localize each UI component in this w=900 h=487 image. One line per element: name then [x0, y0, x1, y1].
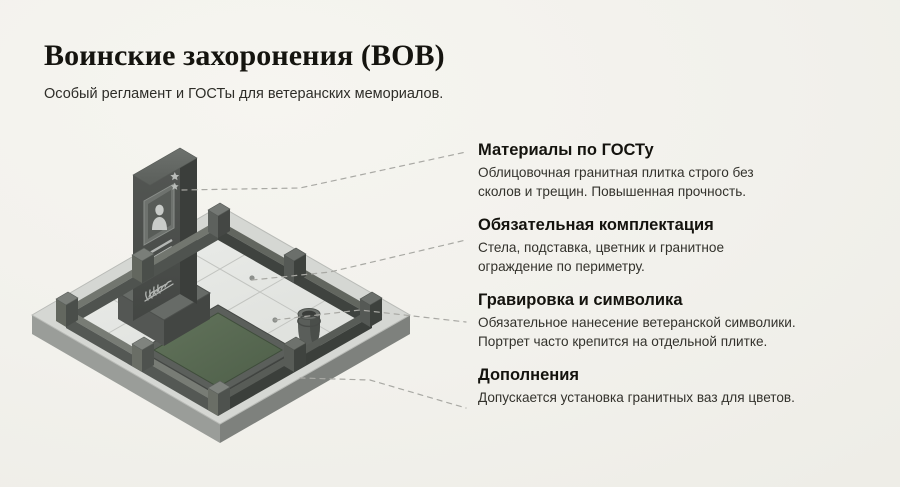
feature-title-extras: Дополнения: [478, 365, 878, 386]
feature-title-materials: Материалы по ГОСТу: [478, 140, 878, 161]
fence-post-top: [208, 203, 230, 238]
feature-line-completeness-1: Стела, подставка, цветник и гранитное: [478, 239, 878, 258]
feature-block-extras: Дополнения Допускается установка гранитн…: [478, 365, 878, 408]
feature-block-engraving: Гравировка и символика Обязательное нане…: [478, 290, 878, 351]
fence-post-mid-back-left: [132, 248, 154, 283]
leader-dot-2: [272, 317, 277, 322]
feature-title-completeness: Обязательная комплектация: [478, 215, 878, 236]
stela-side-face: [180, 148, 197, 304]
feature-line-materials-1: Облицовочная гранитная плитка строго без: [478, 164, 878, 183]
feature-block-materials: Материалы по ГОСТу Облицовочная гранитна…: [478, 140, 878, 201]
header: Воинские захоронения (ВОВ) Особый реглам…: [44, 38, 664, 104]
fence-post-mid-front-left: [132, 337, 154, 372]
feature-line-engraving-2: Портрет часто крепится на отдельной плит…: [478, 333, 878, 352]
feature-line-materials-2: сколов и трещин. Повышенная прочность.: [478, 183, 878, 202]
fence-post-right: [360, 292, 382, 327]
fence-post-bottom: [208, 381, 230, 416]
page-subtitle: Особый регламент и ГОСТы для ветеранских…: [44, 84, 664, 104]
feature-block-completeness: Обязательная комплектация Стела, подстав…: [478, 215, 878, 276]
feature-line-engraving-1: Обязательное нанесение ветеранской симво…: [478, 314, 878, 333]
infographic-page: Воинские захоронения (ВОВ) Особый реглам…: [0, 0, 900, 487]
leader-dot-1: [249, 275, 254, 280]
feature-line-extras-1: Допускается установка гранитных ваз для …: [478, 389, 878, 408]
fence-post-left: [56, 292, 78, 327]
fence-post-mid-back-right: [284, 248, 306, 283]
feature-line-completeness-2: ограждение по периметру.: [478, 258, 878, 277]
fence-post-mid-front-right: [284, 337, 306, 372]
memorial-isometric-svg: [22, 118, 462, 473]
feature-title-engraving: Гравировка и символика: [478, 290, 878, 311]
memorial-illustration: [22, 118, 462, 473]
stela: [133, 148, 197, 321]
page-title: Воинские захоронения (ВОВ): [44, 38, 664, 74]
feature-blocks: Материалы по ГОСТу Облицовочная гранитна…: [478, 140, 878, 408]
